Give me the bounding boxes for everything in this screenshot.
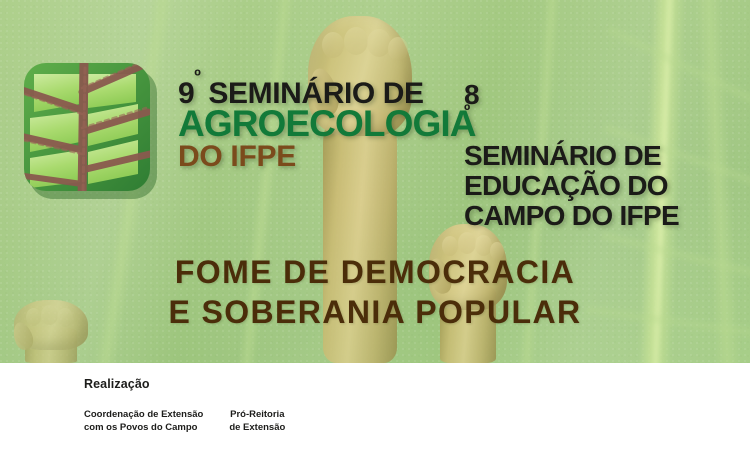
title-right-line3: CAMPO DO IFPE xyxy=(464,201,744,231)
knuckle xyxy=(322,32,344,58)
slogan-line2: E SOBERANIA POPULAR xyxy=(0,292,750,332)
realizacao-organizations: Coordenação de Extensão com os Povos do … xyxy=(84,409,285,435)
agroecologia-tree-logo xyxy=(18,58,163,208)
knuckle xyxy=(388,37,408,61)
realizacao-label: Realização xyxy=(84,377,150,391)
realizacao-heading-block: Realização xyxy=(84,377,150,391)
knuckle xyxy=(458,232,476,254)
event-slogan: FOME DE DEMOCRACIA E SOBERANIA POPULAR xyxy=(0,252,750,332)
title-right-line1: 8º SEMINÁRIO DE xyxy=(464,80,744,171)
organization-coordenacao-extensao: Coordenação de Extensão com os Povos do … xyxy=(84,409,203,435)
title-left-block: 9º SEMINÁRIO DE AGROECOLOGIA DO IFPE xyxy=(178,78,446,171)
organization-pro-reitoria: Pró-Reitoria de Extensão xyxy=(229,409,285,435)
title-right-block: 8º SEMINÁRIO DE EDUCAÇÃO DO CAMPO DO IFP… xyxy=(464,80,744,232)
event-poster: 9º SEMINÁRIO DE AGROECOLOGIA DO IFPE 8º … xyxy=(0,0,750,450)
slogan-line1: FOME DE DEMOCRACIA xyxy=(0,252,750,292)
title-left-line3: DO IFPE xyxy=(178,142,446,171)
footer-bar: Realização Coordenação de Extensão com o… xyxy=(0,363,750,450)
knuckle xyxy=(344,27,368,55)
hero-background: 9º SEMINÁRIO DE AGROECOLOGIA DO IFPE 8º … xyxy=(0,0,750,363)
knuckle xyxy=(367,29,391,57)
title-left-line2: AGROECOLOGIA xyxy=(178,106,446,142)
title-right-line2: EDUCAÇÃO DO xyxy=(464,171,744,201)
